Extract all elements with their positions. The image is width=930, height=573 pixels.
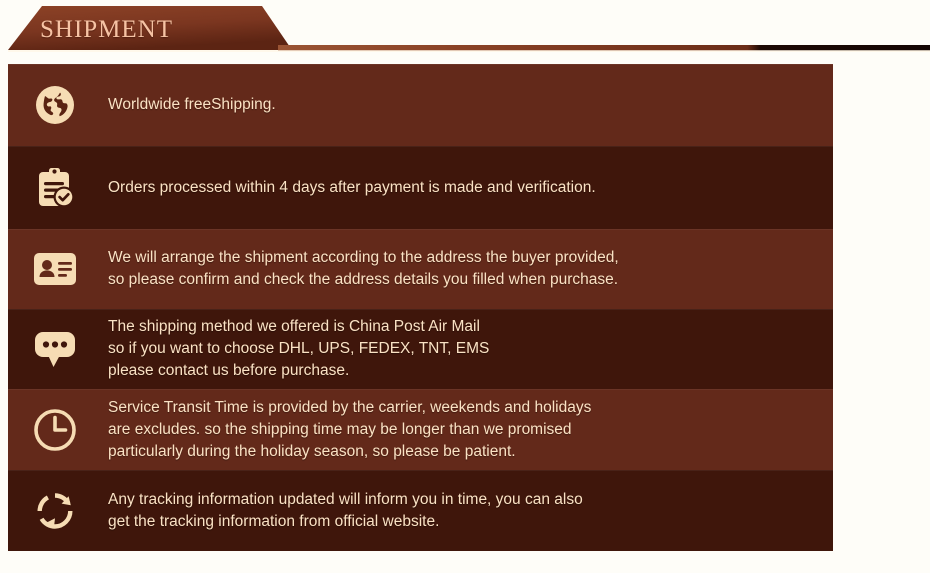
info-row-text: Orders processed within 4 days after pay… bbox=[88, 177, 833, 199]
id-card-icon bbox=[22, 229, 88, 309]
info-row-text: Service Transit Time is provided by the … bbox=[88, 397, 833, 463]
refresh-icon bbox=[22, 470, 88, 551]
page-title: SHIPMENT bbox=[40, 17, 173, 42]
clipboard-check-icon bbox=[22, 146, 88, 229]
info-row-order-processing: Orders processed within 4 days after pay… bbox=[8, 146, 833, 229]
info-row-tracking-information: Any tracking information updated will in… bbox=[8, 470, 833, 551]
info-row-text: Any tracking information updated will in… bbox=[88, 489, 833, 533]
info-row-address-confirmation: We will arrange the shipment according t… bbox=[8, 229, 833, 309]
info-row-worldwide-shipping: Worldwide freeShipping. bbox=[8, 64, 833, 146]
clock-icon bbox=[22, 389, 88, 470]
info-row-shipping-method: The shipping method we offered is China … bbox=[8, 309, 833, 389]
speech-bubble-icon bbox=[22, 309, 88, 389]
info-row-transit-time: Service Transit Time is provided by the … bbox=[8, 389, 833, 470]
header: SHIPMENT bbox=[0, 0, 930, 62]
info-panel: Worldwide freeShipping. Orders bbox=[8, 64, 833, 551]
shipment-banner: SHIPMENT Worldwide freeShipping. bbox=[0, 0, 930, 573]
info-row-text: We will arrange the shipment according t… bbox=[88, 247, 833, 291]
info-row-text: Worldwide freeShipping. bbox=[88, 94, 833, 116]
globe-icon bbox=[22, 64, 88, 146]
info-row-text: The shipping method we offered is China … bbox=[88, 316, 833, 382]
